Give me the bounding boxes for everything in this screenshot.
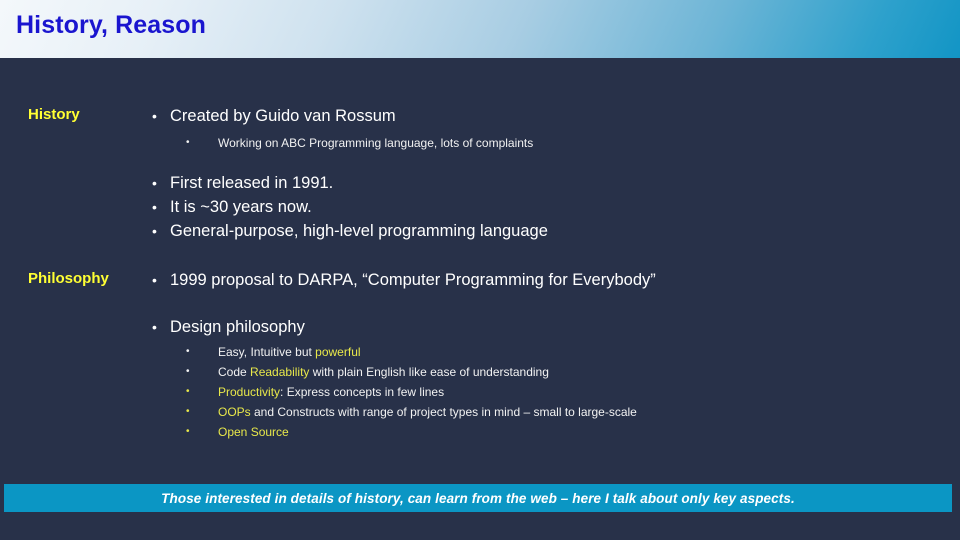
- bullet-text: General-purpose, high-level programming …: [170, 220, 548, 243]
- text-plain: and Constructs with range of project typ…: [251, 405, 637, 419]
- bullet-marker-icon: •: [152, 196, 170, 219]
- bullet-marker-icon: •: [186, 363, 218, 381]
- bullet-easy-intuitive: • Easy, Intuitive but powerful: [186, 343, 361, 361]
- bullet-text: Easy, Intuitive but powerful: [218, 343, 361, 361]
- bullet-text: Productivity: Express concepts in few li…: [218, 383, 444, 401]
- bullet-marker-icon: •: [152, 172, 170, 195]
- bullet-open-source: • Open Source: [186, 423, 289, 441]
- bullet-marker-icon: •: [186, 343, 218, 361]
- bullet-code-readability: • Code Readability with plain English li…: [186, 363, 549, 381]
- footer-banner: Those interested in details of history, …: [4, 484, 952, 512]
- bullet-marker-icon: •: [186, 423, 218, 441]
- text-highlight: powerful: [315, 345, 360, 359]
- text-plain-a: Code: [218, 365, 250, 379]
- bullet-text: Created by Guido van Rossum: [170, 105, 396, 128]
- section-label-history: History: [28, 106, 80, 123]
- text-highlight: Readability: [250, 365, 309, 379]
- section-label-philosophy: Philosophy: [28, 270, 109, 287]
- bullet-text: Code Readability with plain English like…: [218, 363, 549, 381]
- bullet-design-philosophy: • Design philosophy: [152, 316, 305, 339]
- page-title: History, Reason: [16, 11, 206, 40]
- text-highlight: OOPs: [218, 405, 251, 419]
- footer-banner-text: Those interested in details of history, …: [161, 491, 795, 506]
- bullet-working-on-abc: • Working on ABC Programming language, l…: [186, 134, 533, 152]
- bullet-oops-constructs: • OOPs and Constructs with range of proj…: [186, 403, 637, 421]
- text-highlight: Productivity: [218, 385, 280, 399]
- bullet-darpa-proposal: • 1999 proposal to DARPA, “Computer Prog…: [152, 269, 656, 292]
- text-plain: Easy, Intuitive but: [218, 345, 315, 359]
- bullet-created-by: • Created by Guido van Rossum: [152, 105, 396, 128]
- bullet-first-released: • First released in 1991.: [152, 172, 333, 195]
- bullet-marker-icon: •: [152, 316, 170, 339]
- bullet-marker-icon: •: [152, 105, 170, 128]
- bullet-marker-icon: •: [186, 383, 218, 401]
- bullet-text: 1999 proposal to DARPA, “Computer Progra…: [170, 269, 656, 292]
- bullet-thirty-years: • It is ~30 years now.: [152, 196, 312, 219]
- bullet-productivity: • Productivity: Express concepts in few …: [186, 383, 444, 401]
- slide-header: History, Reason: [0, 0, 960, 58]
- bullet-text: It is ~30 years now.: [170, 196, 312, 219]
- bullet-marker-icon: •: [186, 134, 218, 152]
- text-plain: : Express concepts in few lines: [280, 385, 444, 399]
- bullet-marker-icon: •: [186, 403, 218, 421]
- bullet-general-purpose: • General-purpose, high-level programmin…: [152, 220, 548, 243]
- slide-body: History Philosophy • Created by Guido va…: [0, 58, 960, 540]
- bullet-marker-icon: •: [152, 220, 170, 243]
- bullet-text: Open Source: [218, 423, 289, 441]
- text-plain-b: with plain English like ease of understa…: [309, 365, 548, 379]
- bullet-text: OOPs and Constructs with range of projec…: [218, 403, 637, 421]
- bullet-marker-icon: •: [152, 269, 170, 292]
- bullet-text: Working on ABC Programming language, lot…: [218, 134, 533, 152]
- bullet-text: Design philosophy: [170, 316, 305, 339]
- slide: History, Reason History Philosophy • Cre…: [0, 0, 960, 540]
- bullet-text: First released in 1991.: [170, 172, 333, 195]
